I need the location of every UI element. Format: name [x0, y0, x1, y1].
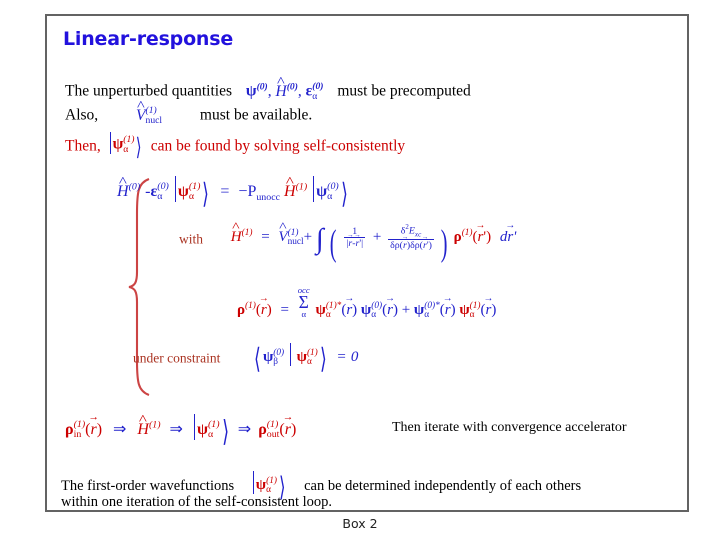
summation-symbol: occ Σ α: [298, 286, 310, 318]
equation-4-body: ⟨ψ(0)β ψ(1)α⟩ =0: [252, 342, 358, 376]
footer-line-2: within one iteration of the self-consist…: [61, 494, 332, 511]
intro-line-3-suffix: can be found by solving self-consistentl…: [151, 137, 405, 154]
intro-line-2: Also, V(1)nucl must be available.: [65, 106, 312, 126]
intro-line-1-prefix: The unperturbed quantities: [65, 82, 232, 99]
iteration-cycle: ρ(1)in(r) ⇒ H(1) ⇒ ψ(1)α⟩ ⇒ ρ(1)out(r): [65, 414, 296, 449]
equation-2-body: H(1) = V(1)nucl+ ∫ ( 1 |r-r'| + δ2Exc δρ…: [231, 224, 517, 257]
iteration-cycle-body: ρ(1)in(r) ⇒ H(1) ⇒ ψ(1)α⟩ ⇒ ρ(1)out(r): [65, 414, 296, 449]
equation-sternheimer: H(0) -ε(0)α ψ(1)α⟩ = −Punocc H(1) ψ(0)α⟩: [117, 176, 350, 211]
intro-line-3-prefix: Then,: [65, 137, 101, 154]
equation-3-body: ρ(1)(r) = occ Σ α ψ(1)*α(r) ψ(0)α(r) + ψ…: [237, 286, 496, 321]
intro-line-1-suffix: must be precomputed: [337, 82, 470, 99]
intro-line-3-math: ψ(1)α⟩: [108, 132, 144, 162]
intro-line-1: The unperturbed quantities ψ(0), H(0), ε…: [65, 82, 471, 102]
footer-line-1-suffix: can be determined independently of each …: [304, 478, 581, 494]
footer-line-1-prefix: The first-order wavefunctions: [61, 478, 234, 494]
equation-sternheimer-body: H(0) -ε(0)α ψ(1)α⟩ = −Punocc H(1) ψ(0)α⟩: [117, 176, 350, 211]
intro-line-1-math: ψ(0), H(0), ε(0)α: [246, 82, 324, 102]
slide-caption: Box 2: [0, 516, 720, 531]
equation-first-order-density: ρ(1)(r) = occ Σ α ψ(1)*α(r) ψ(0)α(r) + ψ…: [237, 286, 496, 321]
equation-first-order-hamiltonian: with H(1) = V(1)nucl+ ∫ ( 1 |r-r'| + δ2E…: [179, 224, 516, 257]
intro-line-2-prefix: Also,: [65, 106, 98, 123]
page-title: Linear-response: [63, 28, 233, 50]
intro-line-3: Then, ψ(1)α⟩ can be found by solving sel…: [65, 132, 405, 162]
equation-orthogonality-constraint: under constraint ⟨ψ(0)β ψ(1)α⟩ =0: [133, 342, 358, 376]
intro-line-2-math: V(1)nucl: [136, 106, 162, 126]
content-frame: Linear-response The unperturbed quantiti…: [45, 14, 689, 512]
intro-line-2-suffix: must be available.: [200, 106, 312, 123]
iteration-note: Then iterate with convergence accelerato…: [392, 420, 627, 436]
equation-2-label: with: [179, 232, 203, 247]
slide-canvas: Linear-response The unperturbed quantiti…: [0, 0, 720, 540]
equation-4-label: under constraint: [133, 350, 220, 365]
